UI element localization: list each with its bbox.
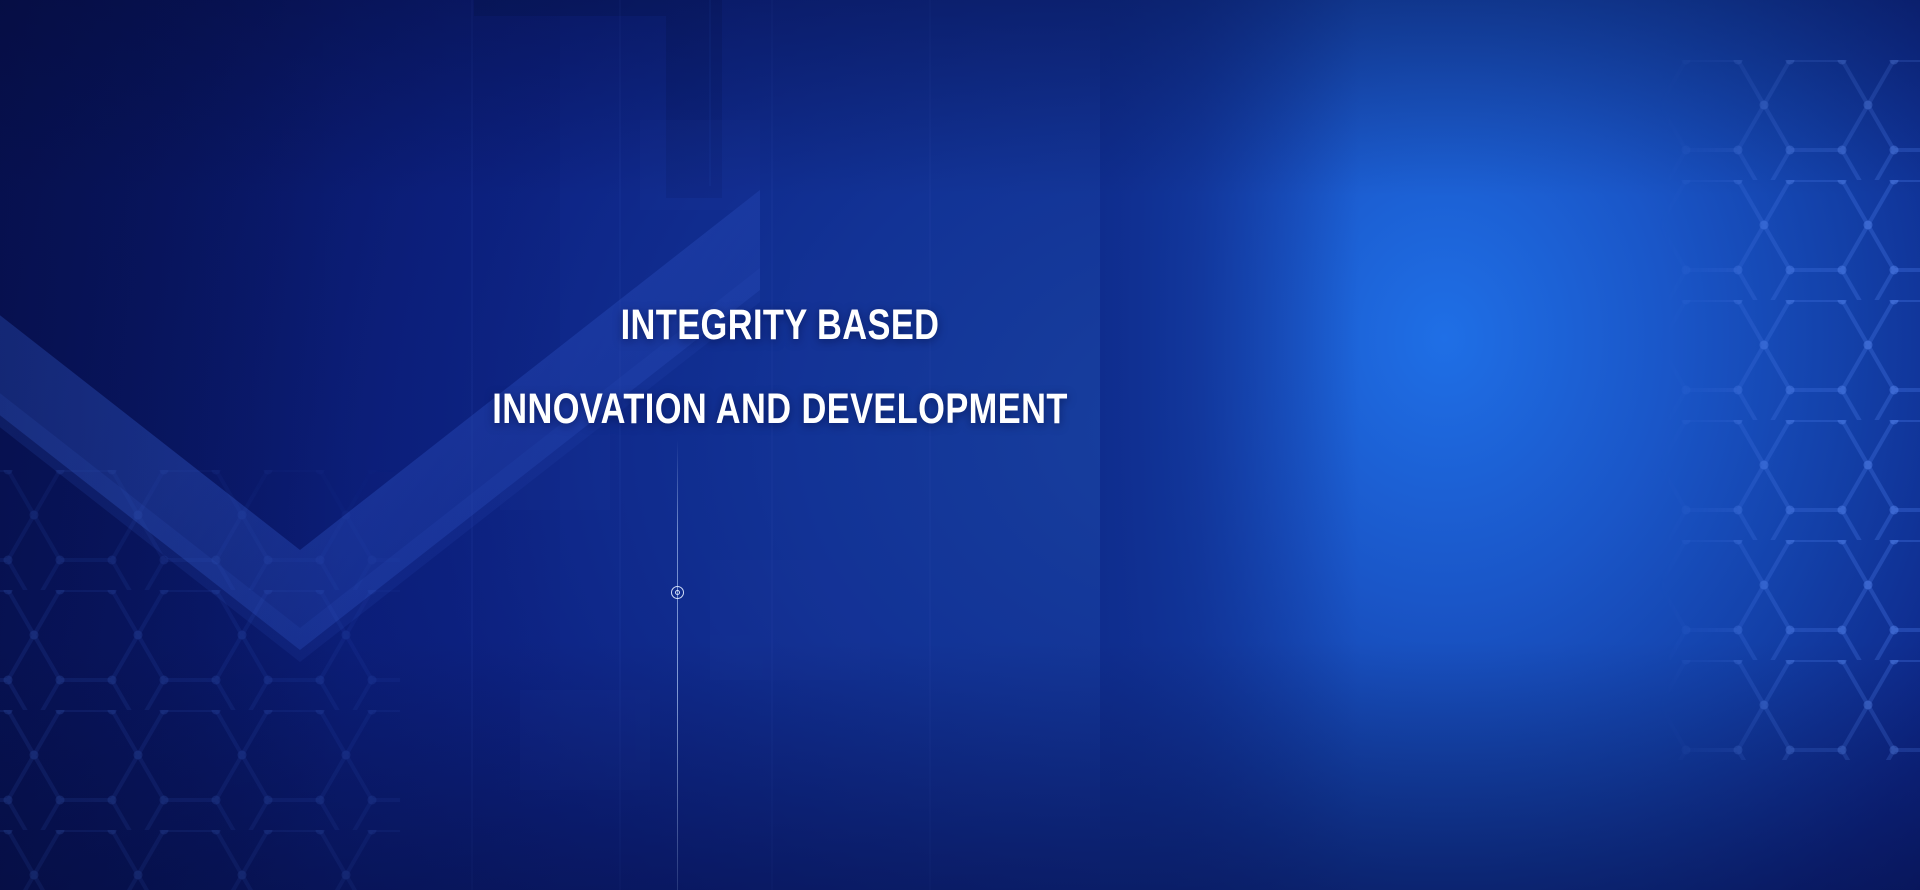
scroll-indicator-line xyxy=(677,440,678,890)
scroll-down-indicator[interactable] xyxy=(677,440,679,890)
scroll-down-circle-icon[interactable] xyxy=(671,586,684,599)
hero-banner: INTEGRITY BASED INNOVATION AND DEVELOPME… xyxy=(0,0,1920,890)
headline-line-2: INNOVATION AND DEVELOPMENT xyxy=(156,367,1404,451)
headline-line-1: INTEGRITY BASED xyxy=(156,283,1404,367)
hero-headline: INTEGRITY BASED INNOVATION AND DEVELOPME… xyxy=(0,283,1560,451)
